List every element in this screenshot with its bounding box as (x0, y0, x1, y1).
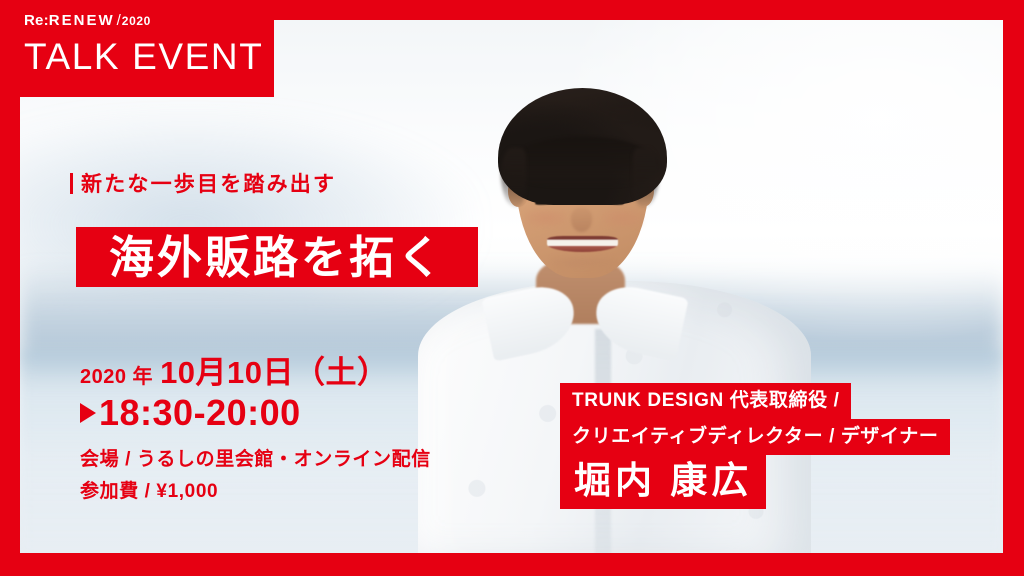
brand-separator: / (117, 12, 121, 29)
speaker-name-row: 堀内 康広 (560, 455, 950, 509)
speaker-role-line-2: クリエイティブディレクター / デザイナー (560, 419, 950, 455)
event-venue: 会場 / うるしの里会館・オンライン配信 (80, 450, 431, 469)
play-triangle-icon (80, 403, 96, 423)
event-fee: 参加費 / ¥1,000 (80, 482, 218, 501)
frame-border-right (1003, 0, 1024, 576)
header-badge: Re:RENEW/2020 TALK EVENT (0, 0, 274, 97)
main-title-text: 海外販路を拓く (109, 235, 445, 280)
event-type-title: TALK EVENT (24, 38, 263, 75)
event-date: 2020 年 10月10日（土） (80, 357, 389, 388)
sideburn-right (633, 148, 659, 207)
brand-logo: Re:RENEW/2020 (24, 12, 151, 29)
sideburn-left (501, 148, 527, 207)
cheek-right (602, 209, 643, 227)
brand-year: 2020 (122, 14, 151, 28)
subtitle-bar-marker (70, 173, 73, 194)
event-date-year: 2020 年 (80, 367, 153, 387)
event-time: 18:30-20:00 (80, 395, 301, 431)
event-date-day: 10月10日（土） (160, 357, 388, 388)
event-subtitle-text: 新たな一歩目を踏み出す (81, 168, 336, 198)
talk-event-poster: Re:RENEW/2020 TALK EVENT 新たな一歩目を踏み出す 海外販… (0, 0, 1024, 576)
event-subtitle: 新たな一歩目を踏み出す (70, 168, 336, 198)
chin (551, 256, 614, 270)
speaker-role-line-1: TRUNK DESIGN 代表取締役 / (560, 383, 851, 419)
speaker-role-row-2: クリエイティブディレクター / デザイナー (560, 419, 950, 455)
event-time-text: 18:30-20:00 (99, 395, 301, 431)
speaker-name: 堀内 康広 (560, 455, 766, 509)
speaker-role-row-1: TRUNK DESIGN 代表取締役 / (560, 383, 950, 419)
main-title-banner: 海外販路を拓く (76, 227, 478, 287)
cheek-left (525, 209, 566, 227)
brand-name: RENEW (49, 12, 115, 29)
speaker-info: TRUNK DESIGN 代表取締役 / クリエイティブディレクター / デザイ… (560, 383, 950, 509)
frame-border-bottom (0, 553, 1024, 576)
brand-prefix: Re: (24, 12, 49, 29)
